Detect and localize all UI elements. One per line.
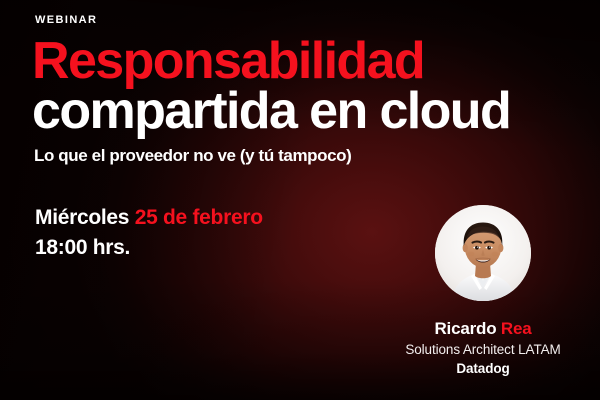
avatar [435,205,531,301]
speaker-name: Ricardo Rea [378,319,588,339]
poster-content: WEBINAR Responsabilidad compartida en cl… [0,0,600,400]
webinar-poster: WEBINAR Responsabilidad compartida en cl… [0,0,600,400]
page-title: Responsabilidad compartida en cloud [32,36,598,137]
speaker-last-name: Rea [501,319,532,338]
schedule-time: 18:00 hrs. [35,233,263,263]
headline-line-1: Responsabilidad [32,36,598,86]
schedule-date-accent: 25 de febrero [135,206,263,229]
eyebrow-label: WEBINAR [35,14,97,26]
schedule-date-line: Miércoles 25 de febrero [35,203,263,233]
subtitle: Lo que el proveedor no ve (y tú tampoco) [34,146,351,166]
speaker-company: Datadog [378,361,588,377]
schedule-day-label: Miércoles [35,206,129,229]
speaker-block: Ricardo Rea Solutions Architect LATAM Da… [378,205,588,377]
schedule-block: Miércoles 25 de febrero 18:00 hrs. [35,203,263,263]
speaker-role: Solutions Architect LATAM [378,342,588,358]
headline-line-2: compartida en cloud [32,86,598,136]
speaker-headshot-image [435,205,531,301]
speaker-first-name: Ricardo [434,319,496,338]
